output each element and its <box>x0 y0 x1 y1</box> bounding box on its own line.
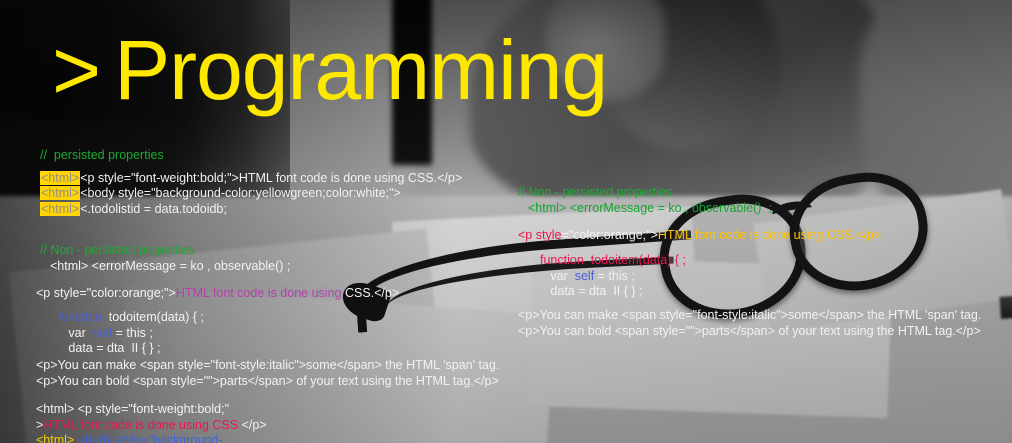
code-text: CSS.</p> <box>341 286 399 300</box>
code-comment: <html> <errorMessage = ko , observable()… <box>518 201 772 217</box>
title-text: Programming <box>114 23 607 117</box>
code-text: <body style="background-color:yellowgree… <box>80 186 401 200</box>
code-highlight-text: HTML font code is done using CSS.</p> <box>658 228 881 242</box>
code-keyword: self <box>575 269 594 283</box>
code-block-left-non-persisted: // Non - persisted properties <html> <er… <box>40 243 290 274</box>
code-text: <.todolistid = data.todoidb; <box>80 202 227 216</box>
code-block-right-span-paragraphs: <p>You can make <span style="font-style:… <box>518 308 981 339</box>
code-block-left-orange-paragraph: <p style="color:orange;">HTML font code … <box>36 286 399 302</box>
page-title: >Programming <box>52 28 607 112</box>
code-block-left-function: function todoitem(data) { ; var self = t… <box>58 310 204 357</box>
code-block-left-bottom: <html> <p style="font-weight:bold;" >HTM… <box>36 402 267 443</box>
code-block-left-span-paragraphs: <p>You can make <span style="font-style:… <box>36 358 499 389</box>
code-text: <p style="font-weight:bold;">HTML font c… <box>80 171 462 185</box>
code-block-right-orange-paragraph: <p style="color:orange;">HTML font code … <box>518 228 881 244</box>
code-highlight-text: HTML font code is done using CSS <box>43 418 238 432</box>
code-highlight-text: HTML font code is done using <box>176 286 342 300</box>
title-chevron-icon: > <box>52 23 100 117</box>
code-block-left-persisted-properties: // persisted properties <html><p style="… <box>40 148 462 217</box>
code-text: data = dta II { } ; <box>540 284 686 300</box>
code-text: <p>You can bold <span style="">parts</sp… <box>36 374 499 390</box>
html-tag-highlight: <html> <box>40 202 80 216</box>
code-text: todoitem(data) { ; <box>102 310 204 324</box>
code-text: var <box>58 326 93 340</box>
code-comment: // Non - persisted properties <box>518 185 772 201</box>
code-text: <p>You can bold <span style="">parts</sp… <box>518 324 981 340</box>
html-tag-highlight: <html> <box>40 171 80 185</box>
code-text: </p> <box>238 418 267 432</box>
html-tag-text: <html> <box>36 433 74 443</box>
code-comment: // Non - persisted properties <box>40 243 290 259</box>
code-text: = this ; <box>112 326 153 340</box>
code-text: <body style="background- <box>74 433 222 443</box>
code-text: ="color:orange;"> <box>561 228 657 242</box>
code-text: <html> <errorMessage = ko , observable()… <box>40 259 290 275</box>
code-text: data = dta II { } ; <box>58 341 204 357</box>
code-keyword: self <box>93 326 112 340</box>
slide-canvas: >Programming // persisted properties <ht… <box>0 0 1012 443</box>
code-block-right-function: function todoitem(data) { ; var self = t… <box>540 253 686 300</box>
code-text: <html> <p style="font-weight:bold;" <box>36 402 267 418</box>
html-tag-highlight: <html> <box>40 186 80 200</box>
code-keyword: function <box>58 310 102 324</box>
slide-content: >Programming // persisted properties <ht… <box>0 0 1012 443</box>
code-text: <p>You can make <span style="font-style:… <box>518 308 981 324</box>
code-comment: // persisted properties <box>40 148 462 164</box>
code-text: = this ; <box>594 269 635 283</box>
code-text: var <box>540 269 575 283</box>
code-keyword: <p style <box>518 228 561 242</box>
code-block-right-non-persisted: // Non - persisted properties <html> <er… <box>518 185 772 216</box>
code-text: <p>You can make <span style="font-style:… <box>36 358 499 374</box>
code-keyword: function todoitem(data) { ; <box>540 253 686 269</box>
code-text: <p style="color:orange;"> <box>36 286 176 300</box>
